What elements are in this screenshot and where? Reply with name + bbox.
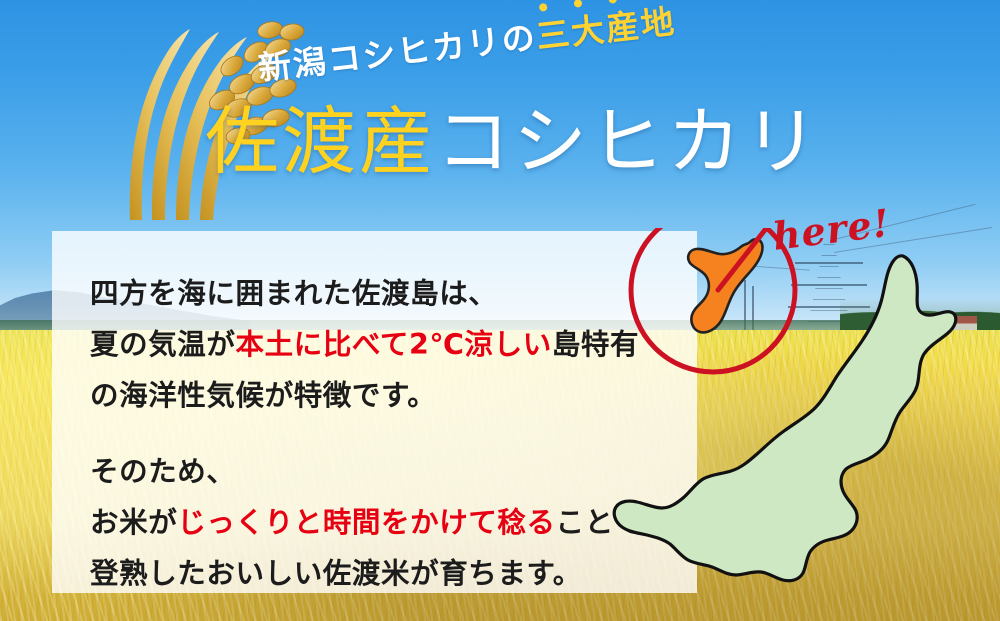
paragraph-1-line-2: 夏の気温が本土に比べて2℃涼しい島特有 [90,319,680,370]
paragraph-2: そのため、 お米がじっくりと時間をかけて稔ることで、 登熟したおいしい佐渡米が育… [90,446,680,599]
sado-island-icon [688,239,762,332]
paragraph-1: 四方を海に囲まれた佐渡島は、 夏の気温が本土に比べて2℃涼しい島特有 の海洋性気… [90,268,680,421]
banner-canvas: 新潟コシヒカリの三大産地 佐渡産コシヒカリ 四方を海に囲まれた佐渡島は、 夏の気… [0,0,1000,621]
emphasis-text-slow-ripening: じっくりと時間をかけて稔る [177,506,555,539]
paragraph-2-line-2: お米がじっくりと時間をかけて稔ることで、 [90,497,680,548]
niigata-map [600,228,1000,621]
emphasis-text-cooler: 本土に比べて2℃涼しい [236,328,552,361]
paragraph-1-line-3: の海洋性気候が特徴です。 [90,370,680,421]
paragraph-1-line-1: 四方を海に囲まれた佐渡島は、 [90,268,680,319]
page-title: 佐渡産コシヒカリ [205,105,821,179]
niigata-prefecture-map-icon [614,256,956,581]
paragraph-2-line-3: 登熟したおいしい佐渡米が育ちます。 [90,548,680,599]
paragraph-2-line-1: そのため、 [90,446,680,497]
description-text: 四方を海に囲まれた佐渡島は、 夏の気温が本土に比べて2℃涼しい島特有 の海洋性気… [90,268,680,599]
page-title-gold: 佐渡産 [205,99,436,185]
page-title-white: コシヒカリ [436,99,821,185]
